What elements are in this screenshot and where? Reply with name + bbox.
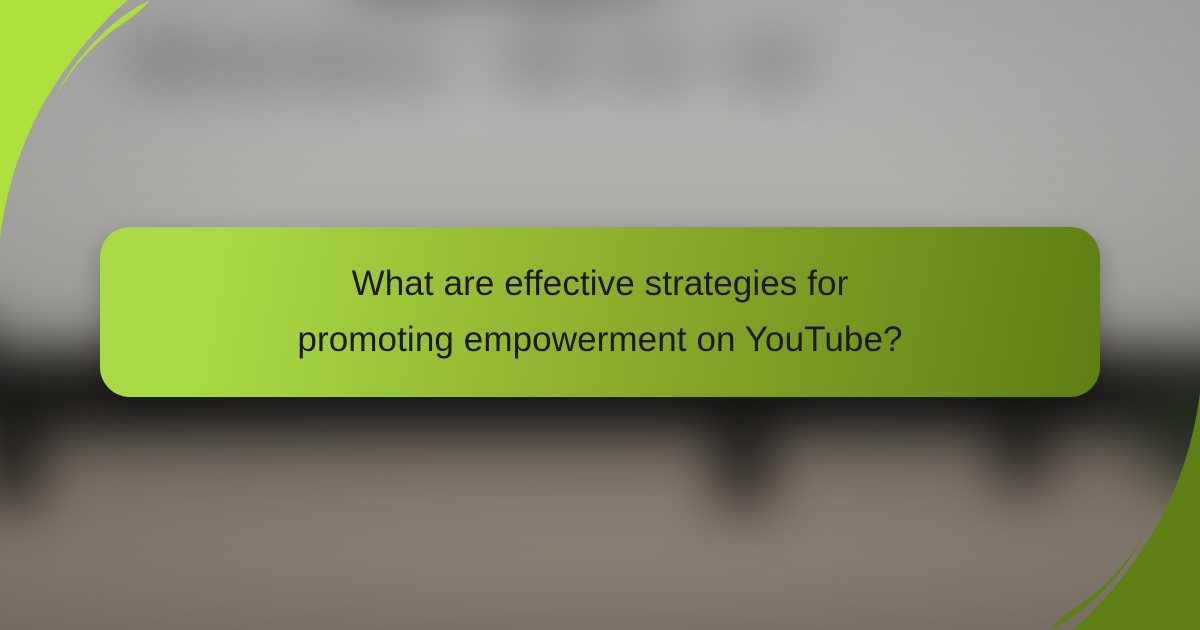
quote-card-image: What are effective strategies for promot… <box>0 0 1200 630</box>
question-card: What are effective strategies for promot… <box>100 227 1100 397</box>
question-text: What are effective strategies for promot… <box>297 256 902 368</box>
